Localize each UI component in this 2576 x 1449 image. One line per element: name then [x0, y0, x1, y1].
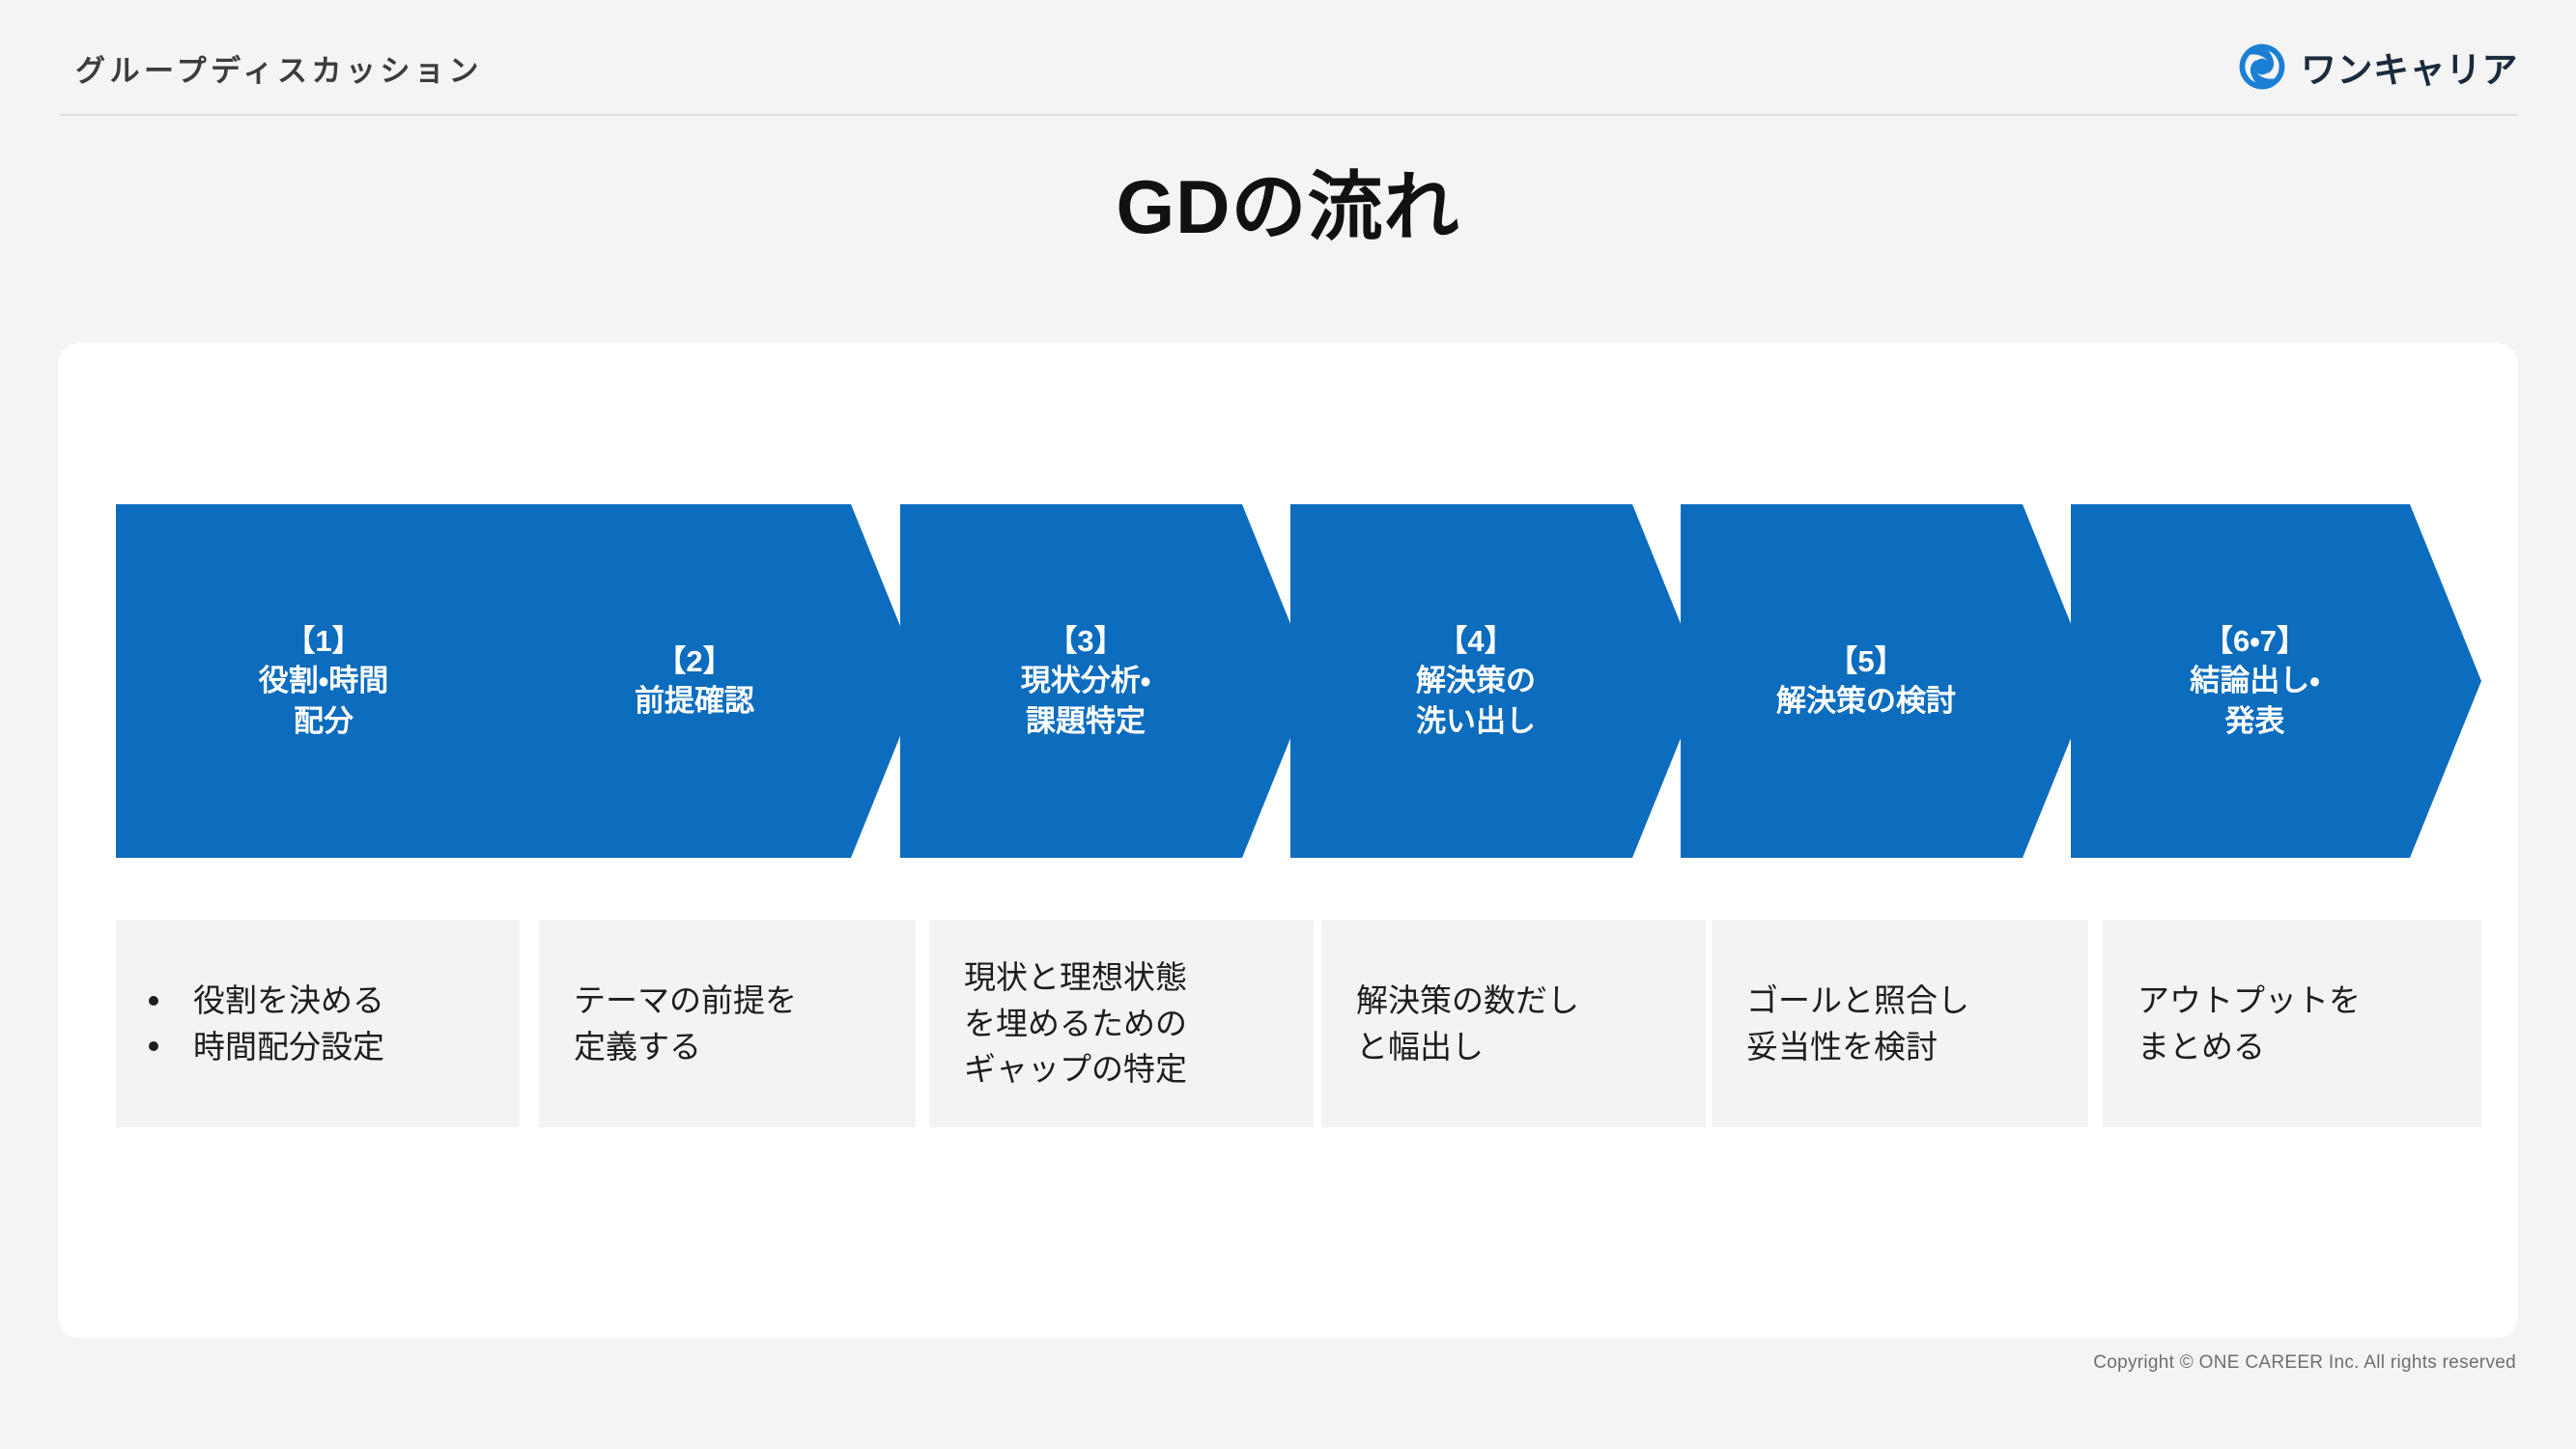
- header-eyebrow-title: グループディスカッション: [75, 46, 483, 90]
- brand-name-label: ワンキャリア: [2301, 41, 2518, 93]
- list-item: 役割を決める: [143, 978, 384, 1024]
- content-card: 【1】 役割・時間 配分 【2】 前提確認 【3】 現状分析・ 課題特定 【4】…: [58, 343, 2518, 1338]
- flow-step-4-label: 【4】 解決策の 洗い出し: [1416, 621, 1536, 741]
- flow-step-4-chevron: 【4】 解決策の 洗い出し: [1290, 504, 1704, 858]
- flow-caption-5-text: ゴールと照合し 妥当性を検討: [1712, 978, 1969, 1070]
- flow-caption-6: アウトプットを まとめる: [2103, 920, 2481, 1127]
- flow-step-3-label: 【3】 現状分析・ 課題特定: [1021, 621, 1151, 741]
- flow-step-3-chevron: 【3】 現状分析・ 課題特定: [900, 504, 1314, 858]
- flow-step-1-label: 【1】 役割・時間 配分: [259, 621, 389, 741]
- flow-step-2-chevron: 【2】 前提確認: [509, 504, 922, 858]
- flow-caption-1: 役割を決める 時間配分設定: [116, 920, 520, 1127]
- footer-copyright: Copyright © ONE CAREER Inc. All rights r…: [2093, 1352, 2516, 1374]
- flow-caption-3-text: 現状と理想状態 を埋めるための ギャップの特定: [929, 954, 1187, 1094]
- process-flow-diagram: 【1】 役割・時間 配分 【2】 前提確認 【3】 現状分析・ 課題特定 【4】…: [116, 504, 2458, 858]
- brand-logo: ワンキャリア: [2237, 41, 2518, 93]
- flow-step-2-label: 【2】 前提確認: [635, 641, 754, 721]
- flow-caption-4-text: 解決策の数だし と幅出し: [1321, 978, 1579, 1070]
- list-item: 時間配分設定: [143, 1024, 384, 1070]
- flow-caption-4: 解決策の数だし と幅出し: [1321, 920, 1706, 1127]
- one-career-swirl-icon: [2237, 42, 2287, 92]
- flow-step-5-chevron: 【5】 解決策の検討: [1681, 504, 2094, 858]
- flow-caption-6-text: アウトプットを まとめる: [2103, 978, 2361, 1070]
- flow-caption-3: 現状と理想状態 を埋めるための ギャップの特定: [929, 920, 1314, 1127]
- flow-caption-2-text: テーマの前提を 定義する: [539, 978, 797, 1070]
- flow-caption-5: ゴールと照合し 妥当性を検討: [1712, 920, 2088, 1127]
- page-header: グループディスカッション ワンキャリア: [0, 0, 2576, 116]
- slide-title: GDの流れ: [0, 147, 2576, 255]
- flow-step-5-label: 【5】 解決策の検討: [1776, 641, 1956, 721]
- flow-step-6-chevron: 【6・7】 結論出し・ 発表: [2071, 504, 2481, 858]
- flow-caption-2: テーマの前提を 定義する: [539, 920, 916, 1127]
- flow-step-6-label: 【6・7】 結論出し・ 発表: [2190, 621, 2320, 741]
- flow-caption-1-bullets: 役割を決める 時間配分設定: [116, 978, 384, 1070]
- flow-caption-row: 役割を決める 時間配分設定 テーマの前提を 定義する 現状と理想状態 を埋めるた…: [116, 920, 2458, 1127]
- header-divider: [60, 114, 2518, 116]
